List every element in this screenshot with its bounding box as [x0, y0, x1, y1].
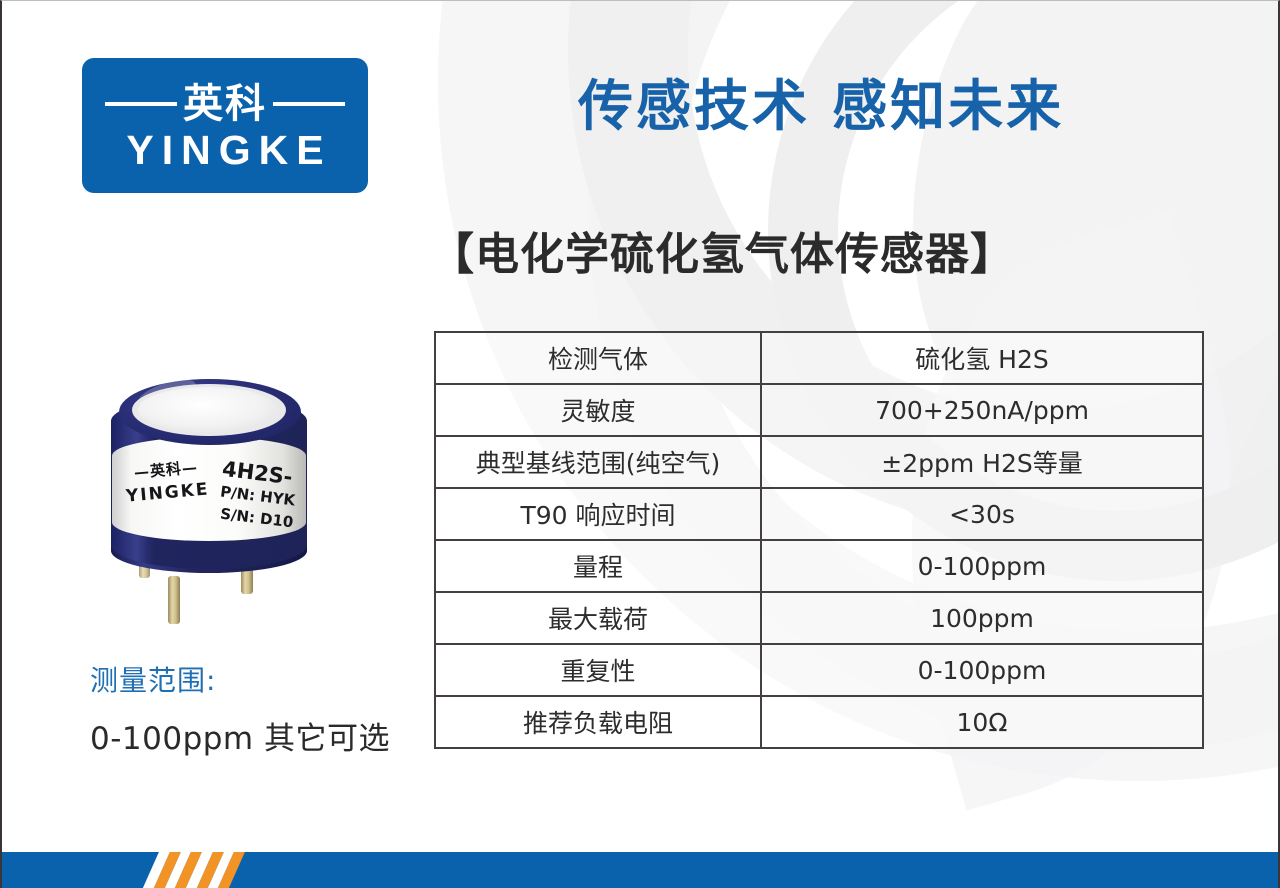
spec-key: 灵敏度 — [435, 384, 761, 436]
footer-bar — [2, 852, 1278, 888]
company-logo: 英科 YINGKE — [82, 58, 368, 193]
spec-value: 硫化氢 H2S — [761, 332, 1203, 384]
spec-key: 量程 — [435, 540, 761, 592]
sensor-label-band: —英科— YINGKE 4H2S- P/N: HYK S/N: D10 — [112, 437, 306, 541]
sensor-cap-membrane — [138, 387, 278, 432]
spec-value: 10Ω — [761, 696, 1203, 748]
spec-value: 0-100ppm — [761, 644, 1203, 696]
spec-value: 100ppm — [761, 592, 1203, 644]
sensor-label-serial-number: S/N: D10 — [219, 507, 294, 531]
sensor-product-photo: —英科— YINGKE 4H2S- P/N: HYK S/N: D10 — [105, 379, 320, 624]
table-row: 最大载荷 100ppm — [435, 592, 1203, 644]
table-row: T90 响应时间 <30s — [435, 488, 1203, 540]
spec-key: 推荐负载电阻 — [435, 696, 761, 748]
logo-english-name: YINGKE — [126, 130, 331, 171]
specification-table-body: 检测气体 硫化氢 H2S 灵敏度 700+250nA/ppm 典型基线范围(纯空… — [435, 332, 1203, 748]
logo-top-row: 英科 — [82, 84, 368, 124]
table-row: 灵敏度 700+250nA/ppm — [435, 384, 1203, 436]
spec-key: T90 响应时间 — [435, 488, 761, 540]
spec-sheet-page: 英科 YINGKE 传感技术 感知未来 【电化学硫化氢气体传感器】 —英科— Y… — [0, 0, 1280, 888]
spec-value: 0-100ppm — [761, 540, 1203, 592]
spec-value: 700+250nA/ppm — [761, 384, 1203, 436]
page-title: 【电化学硫化氢气体传感器】 — [430, 218, 1015, 282]
spec-key: 典型基线范围(纯空气) — [435, 436, 761, 488]
table-row: 检测气体 硫化氢 H2S — [435, 332, 1203, 384]
spec-key: 重复性 — [435, 644, 761, 696]
measuring-range-value: 0-100ppm 其它可选 — [90, 713, 390, 758]
table-row: 量程 0-100ppm — [435, 540, 1203, 592]
spec-value: <30s — [761, 488, 1203, 540]
spec-value: ±2ppm H2S等量 — [761, 436, 1203, 488]
table-row: 推荐负载电阻 10Ω — [435, 696, 1203, 748]
table-row: 典型基线范围(纯空气) ±2ppm H2S等量 — [435, 436, 1203, 488]
logo-chinese-name: 英科 — [177, 84, 273, 124]
table-row: 重复性 0-100ppm — [435, 644, 1203, 696]
logo-rule-right — [273, 102, 345, 106]
sensor-label-brand-cn: —英科— — [133, 460, 198, 481]
spec-key: 最大载荷 — [435, 592, 761, 644]
company-slogan: 传感技术 感知未来 — [578, 61, 1064, 141]
spec-key: 检测气体 — [435, 332, 761, 384]
sensor-pin-left — [168, 576, 180, 624]
specification-table: 检测气体 硫化氢 H2S 灵敏度 700+250nA/ppm 典型基线范围(纯空… — [434, 331, 1204, 749]
logo-rule-left — [105, 102, 177, 106]
footer-stripe-group — [138, 852, 247, 888]
measuring-range-label: 测量范围: — [90, 659, 216, 699]
sensor-label-brand-en: YINGKE — [125, 481, 210, 505]
